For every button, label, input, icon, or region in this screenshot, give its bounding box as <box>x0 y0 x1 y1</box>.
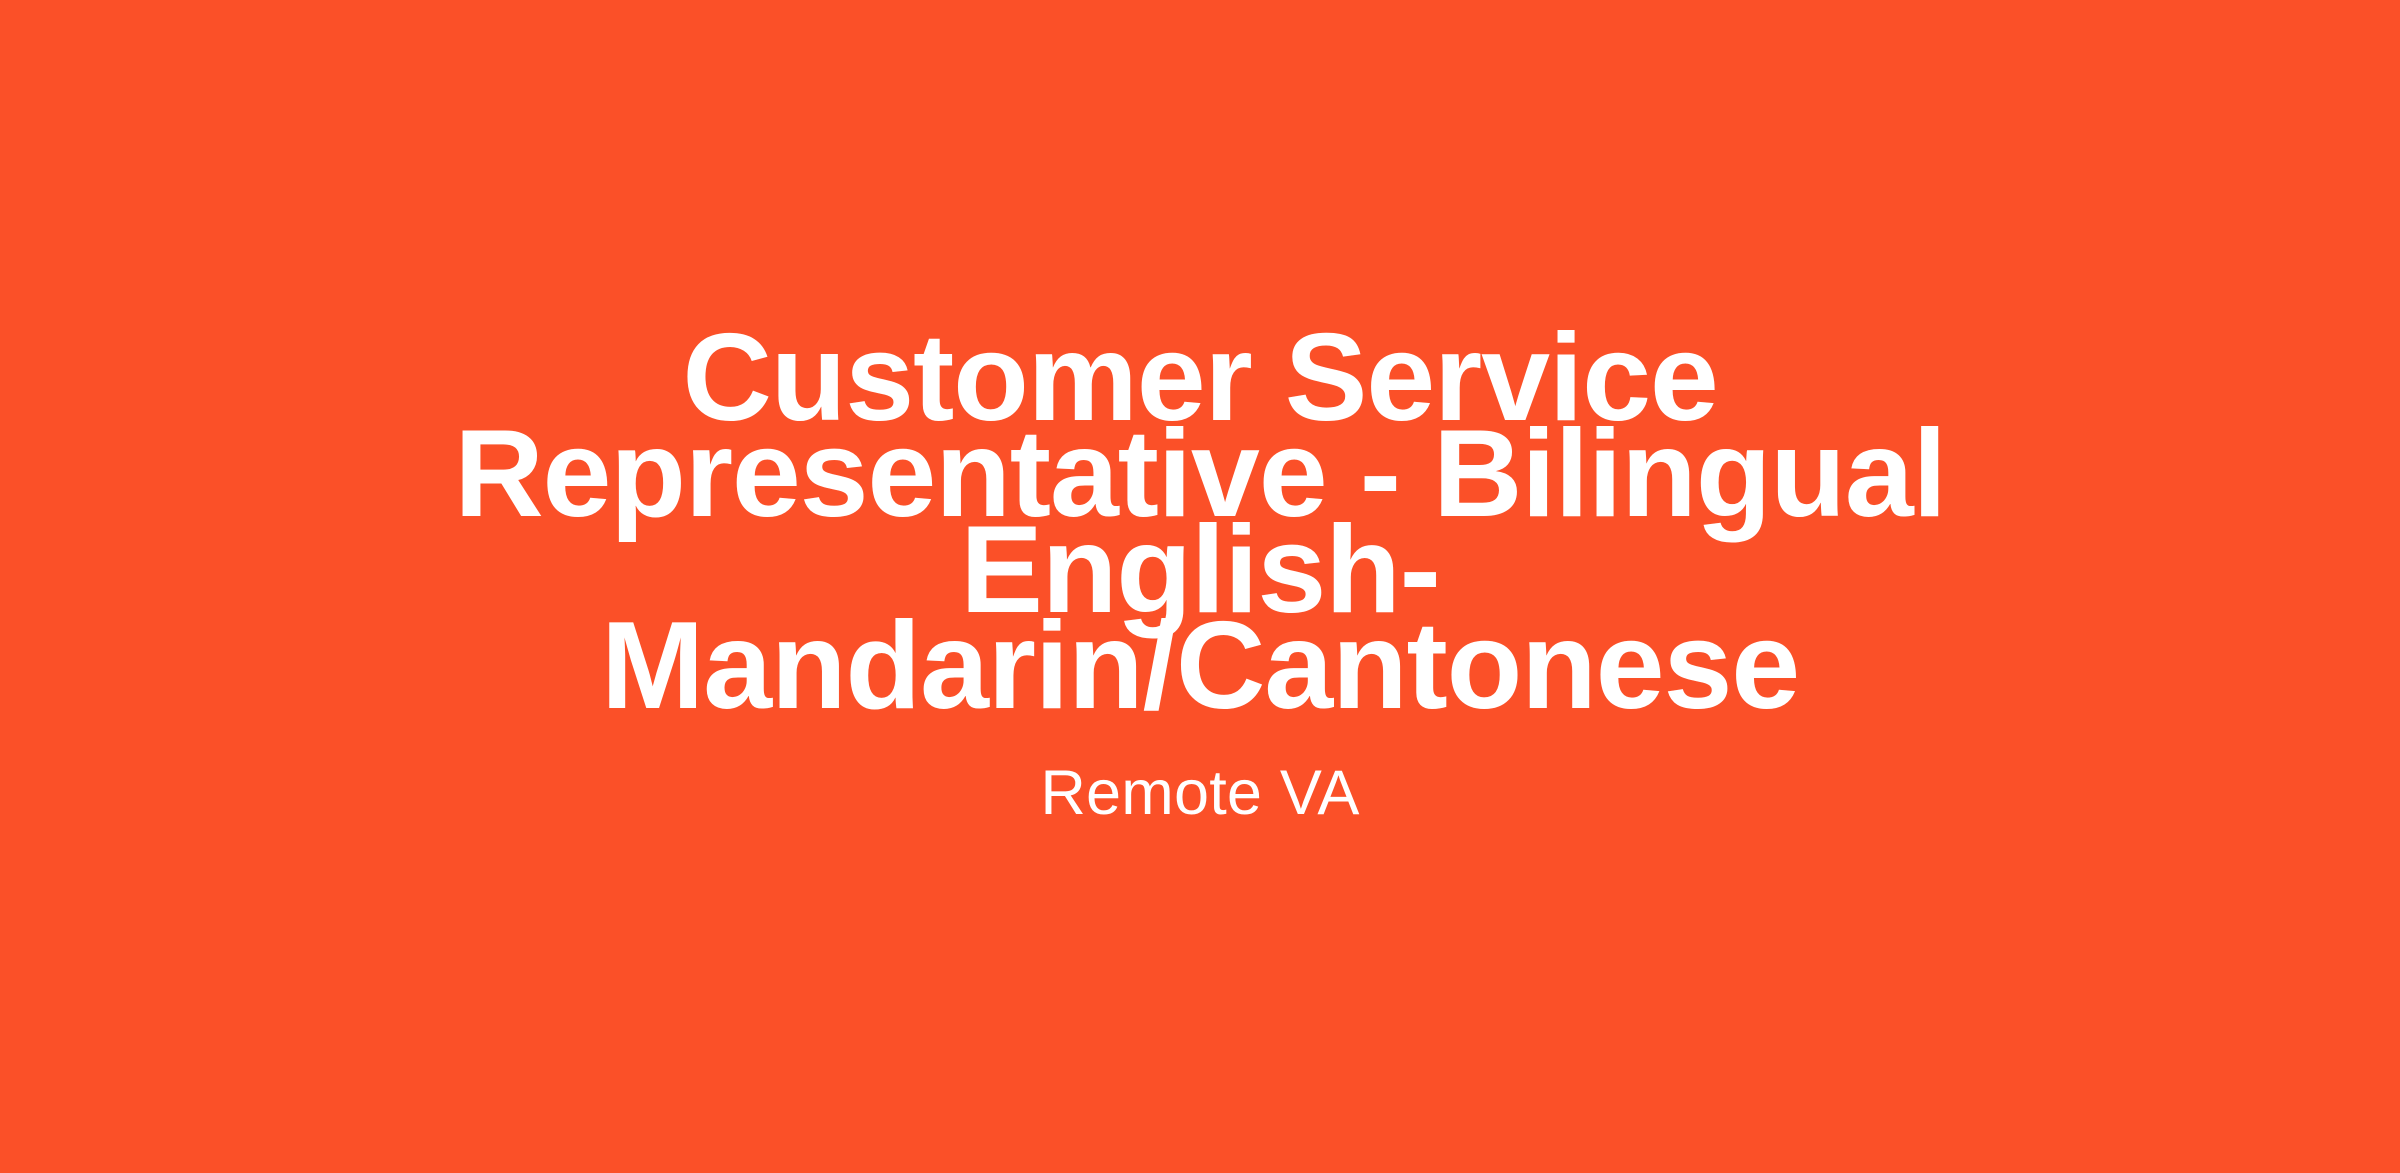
job-title: Customer Service Representative - Biling… <box>390 330 2010 714</box>
job-posting-card: Customer Service Representative - Biling… <box>0 0 2400 1173</box>
job-location: Remote VA <box>390 757 2010 829</box>
card-content: Customer Service Representative - Biling… <box>390 330 2010 829</box>
job-title-line-4: Mandarin/Cantonese <box>390 618 2010 714</box>
